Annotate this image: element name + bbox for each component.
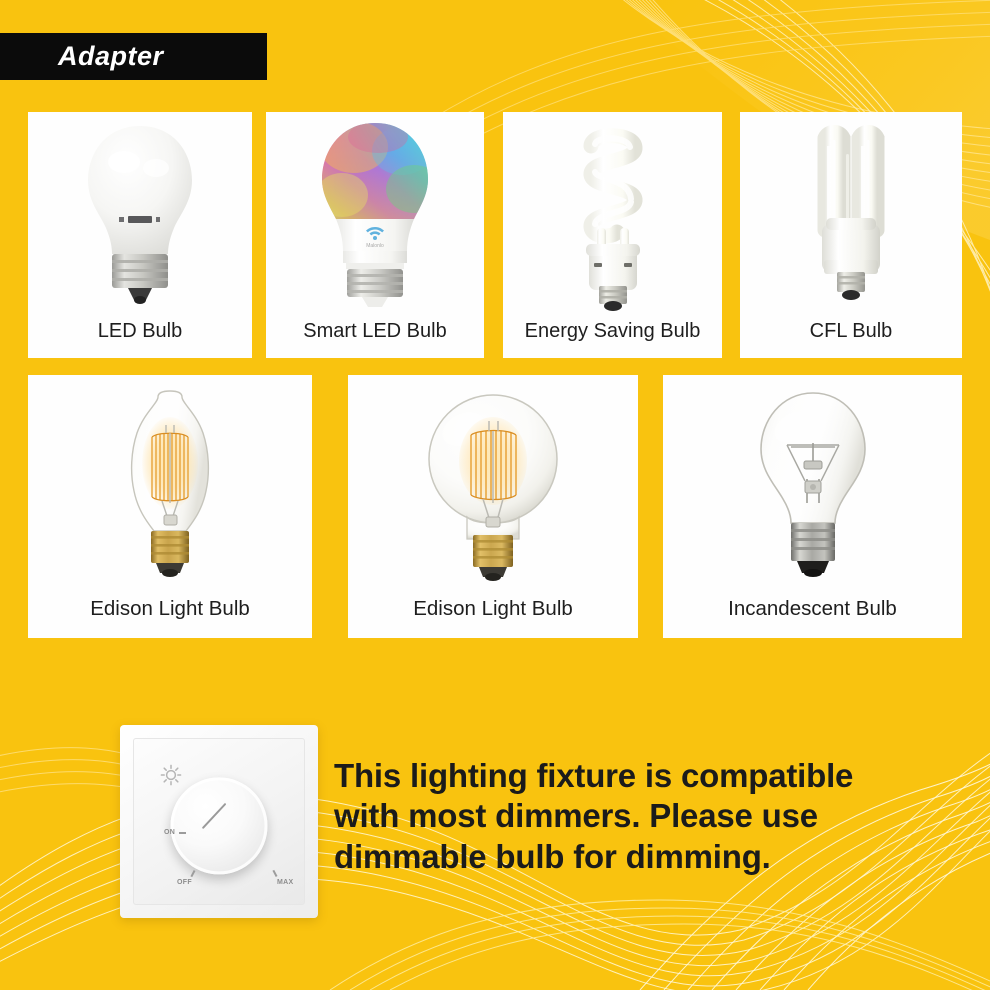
dimmer-switch-plate[interactable]: ON OFF MAX [120, 725, 318, 918]
bulb-card-label: Incandescent Bulb [663, 599, 962, 639]
page-title: Adapter [58, 43, 164, 70]
dimmer-knob[interactable] [171, 777, 268, 874]
compatibility-text: This lighting fixture is compatible with… [334, 756, 914, 877]
dimmer-dash-off [190, 870, 195, 877]
poster-canvas: Adapter [0, 0, 990, 990]
bulb-card-edison-globe[interactable]: Edison Light Bulb [348, 375, 638, 638]
bulb-card-led[interactable]: LED Bulb [28, 112, 252, 358]
smart-led-bulb-icon: Malonlo [266, 112, 484, 314]
edison-globe-bulb-icon [348, 375, 638, 594]
compatibility-line-3: dimmable bulb for dimming. [334, 837, 914, 877]
dimmer-tick-max: MAX [277, 879, 293, 886]
dimmer-knob-indicator [202, 803, 227, 829]
section-header-bar: Adapter [0, 33, 267, 80]
energy-saving-bulb-icon [503, 112, 722, 314]
led-bulb-icon [28, 112, 252, 314]
compatibility-line-2: with most dimmers. Please use [334, 796, 914, 836]
bulb-card-label: Edison Light Bulb [348, 599, 638, 639]
bulb-card-label: Energy Saving Bulb [503, 321, 722, 358]
bulb-card-label: CFL Bulb [740, 321, 962, 358]
incandescent-bulb-icon [663, 375, 962, 594]
bulb-card-label: LED Bulb [28, 321, 252, 358]
compatibility-line-1: This lighting fixture is compatible [334, 756, 914, 796]
edison-st64-bulb-icon [28, 375, 312, 594]
dimmer-tick-on: ON [164, 829, 175, 836]
bulb-card-incandescent[interactable]: Incandescent Bulb [663, 375, 962, 638]
brightness-sun-icon [159, 763, 183, 787]
bulb-card-smart-led[interactable]: Malonlo Smart LED Bulb [266, 112, 484, 358]
bulb-card-label: Smart LED Bulb [266, 321, 484, 358]
dimmer-inner-frame: ON OFF MAX [133, 738, 305, 905]
svg-text:Malonlo: Malonlo [366, 243, 384, 249]
bulb-card-cfl[interactable]: CFL Bulb [740, 112, 962, 358]
bulb-card-edison-st64[interactable]: Edison Light Bulb [28, 375, 312, 638]
bulb-card-energy-saving[interactable]: Energy Saving Bulb [503, 112, 722, 358]
cfl-bulb-icon [740, 112, 962, 314]
dimmer-tick-off: OFF [177, 879, 192, 886]
bulb-card-label: Edison Light Bulb [28, 599, 312, 639]
dimmer-dash-max [272, 870, 277, 877]
dimmer-dash-on [179, 832, 186, 834]
